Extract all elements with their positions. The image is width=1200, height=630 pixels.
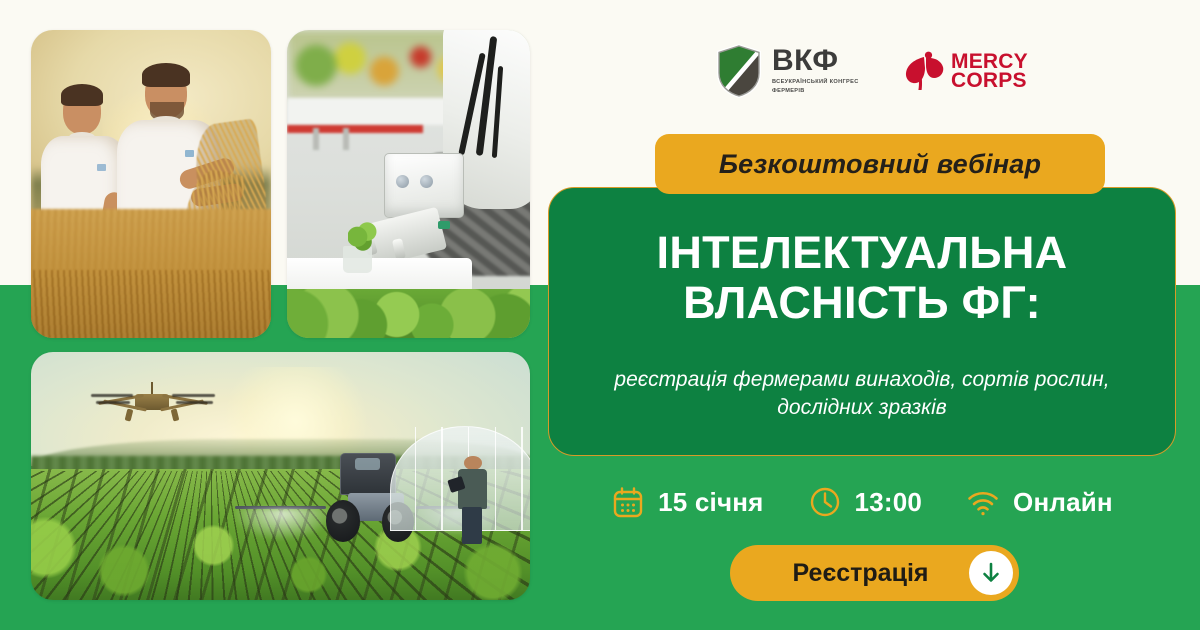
logo-row: ВКФ ВСЕУКРАЇНСЬКИЙ КОНГРЕС ФЕРМЕРІВ MERC… (715, 40, 1045, 102)
photo-drone-tractor-field (31, 352, 530, 600)
wifi-icon (966, 485, 1000, 519)
webinar-poster: ВКФ ВСЕУКРАЇНСЬКИЙ КОНГРЕС ФЕРМЕРІВ MERC… (0, 0, 1200, 630)
headline-line-1: ІНТЕЛЕКТУАЛЬНА (560, 228, 1164, 278)
meta-time-value: 13:00 (855, 487, 923, 518)
event-meta-row: 15 січня 13:00 Онлайн (548, 474, 1176, 530)
clock-icon (808, 485, 842, 519)
mercy-corps-line2: CORPS (951, 71, 1028, 90)
meta-format-value: Онлайн (1013, 487, 1113, 518)
shield-icon (715, 43, 763, 99)
meta-date-value: 15 січня (658, 487, 763, 518)
subtitle-line-2: дослідних зразків (566, 394, 1158, 422)
calendar-icon (611, 485, 645, 519)
farmer-with-tablet-figure (455, 456, 490, 540)
photo-robot-arm-lettuce (287, 30, 530, 338)
leaf-figure-icon (902, 51, 944, 91)
free-webinar-badge: Безкоштовний вебінар (655, 134, 1105, 194)
free-webinar-label: Безкоштовний вебінар (719, 149, 1041, 180)
photo-farmers-wheat-field (31, 30, 271, 338)
subtitle-line-1: реєстрація фермерами винаходів, сортів р… (566, 366, 1158, 394)
page-subtitle: реєстрація фермерами винаходів, сортів р… (566, 366, 1158, 422)
register-button-label: Реєстрація (730, 559, 969, 588)
drone-figure (96, 382, 211, 422)
page-title: ІНТЕЛЕКТУАЛЬНА ВЛАСНІСТЬ ФГ: (560, 228, 1164, 329)
arrow-down-icon (969, 551, 1013, 595)
vkf-subtitle: ВСЕУКРАЇНСЬКИЙ КОНГРЕС ФЕРМЕРІВ (772, 78, 868, 95)
meta-format: Онлайн (966, 485, 1113, 519)
meta-time: 13:00 (808, 485, 923, 519)
vkf-acronym: ВКФ (772, 47, 868, 76)
headline-line-2: ВЛАСНІСТЬ ФГ: (560, 278, 1164, 328)
meta-date: 15 січня (611, 485, 763, 519)
register-button[interactable]: Реєстрація (730, 545, 1019, 601)
mercy-corps-logo: MERCY CORPS (902, 51, 1028, 91)
vkf-logo: ВКФ ВСЕУКРАЇНСЬКИЙ КОНГРЕС ФЕРМЕРІВ (715, 43, 868, 99)
